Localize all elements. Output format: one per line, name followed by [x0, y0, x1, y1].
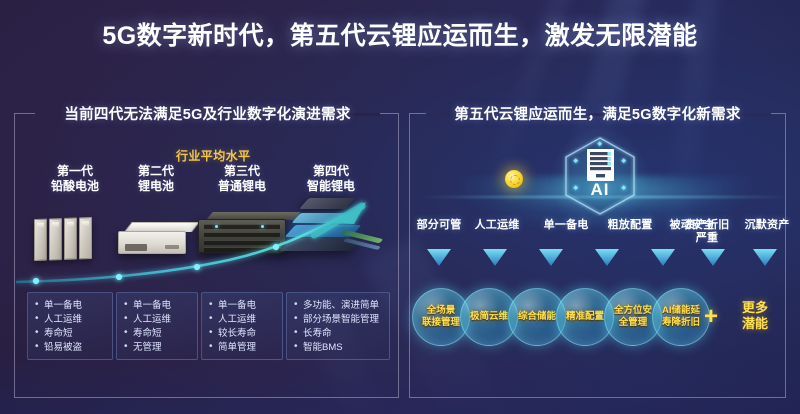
feature-item: 单一备电	[35, 299, 107, 313]
feature-item: 无管理	[124, 341, 192, 355]
feature-item: 单一备电	[209, 299, 277, 313]
feature-item: 智能BMS	[294, 341, 384, 355]
feature-box-4: 多功能、演进简单 部分场景智能管理 长寿命 智能BMS	[286, 292, 390, 360]
more-potential-label: 更多 潜能	[724, 300, 786, 332]
chevron-down-icon	[538, 248, 564, 268]
generation-number-4: 第四代	[288, 164, 374, 179]
feature-item: 较长寿命	[209, 327, 277, 341]
status-label-4: 粗放配置	[599, 219, 661, 232]
capability-label: AI储能延 寿降折旧	[655, 305, 707, 329]
chevron-down-icon	[752, 248, 778, 268]
panel-right-heading: 第五代云锂应运而生，满足5G数字化新需求	[430, 103, 765, 124]
page-title: 5G数字新时代，第五代云锂应运而生，激发无限潜能	[0, 16, 800, 52]
ai-server-hexagon-icon: AI	[562, 136, 638, 216]
chevron-down-icon	[650, 248, 676, 268]
chevron-down-icon	[594, 248, 620, 268]
feature-item: 部分场景智能管理	[294, 313, 384, 327]
generation-number-2: 第二代	[113, 164, 199, 179]
feature-box-2: 单一备电 人工运维 寿命短 无管理	[116, 292, 198, 360]
panel-left-heading: 当前四代无法满足5G及行业数字化演进需求	[40, 103, 375, 124]
feature-item: 单一备电	[124, 299, 192, 313]
chevron-down-icon	[700, 248, 726, 268]
slide-canvas: 5G数字新时代，第五代云锂应运而生，激发无限潜能 当前四代无法满足5G及行业数字…	[0, 0, 800, 414]
feature-item: 寿命短	[35, 327, 107, 341]
status-label-1: 部分可管	[409, 219, 469, 232]
feature-item: 铅易被盗	[35, 341, 107, 355]
feature-item: 简单管理	[209, 341, 277, 355]
status-label-3: 单一备电	[535, 219, 597, 232]
gold-node-icon	[505, 170, 523, 188]
ai-label: AI	[562, 180, 638, 200]
generation-number-1: 第一代	[32, 164, 118, 179]
status-label-2: 人工运维	[466, 219, 528, 232]
feature-item: 寿命短	[124, 327, 192, 341]
feature-box-1: 单一备电 人工运维 寿命短 铅易被盗	[27, 292, 113, 360]
chevron-down-icon	[482, 248, 508, 268]
capability-bubble-6[interactable]: AI储能延 寿降折旧	[652, 288, 710, 346]
status-label-6: 资产折旧 严重	[676, 219, 738, 245]
feature-item: 人工运维	[124, 313, 192, 327]
generation-number-3: 第三代	[199, 164, 285, 179]
feature-item: 多功能、演进简单	[294, 299, 384, 313]
growth-trend-curve	[14, 190, 434, 300]
plus-sign: +	[704, 305, 718, 329]
status-label-7: 沉默资产	[736, 219, 798, 232]
feature-item: 长寿命	[294, 327, 384, 341]
chevron-down-icon	[426, 248, 452, 268]
industry-average-badge: 行业平均水平	[176, 147, 250, 164]
feature-item: 人工运维	[209, 313, 277, 327]
feature-box-3: 单一备电 人工运维 较长寿命 简单管理	[201, 292, 283, 360]
feature-item: 人工运维	[35, 313, 107, 327]
